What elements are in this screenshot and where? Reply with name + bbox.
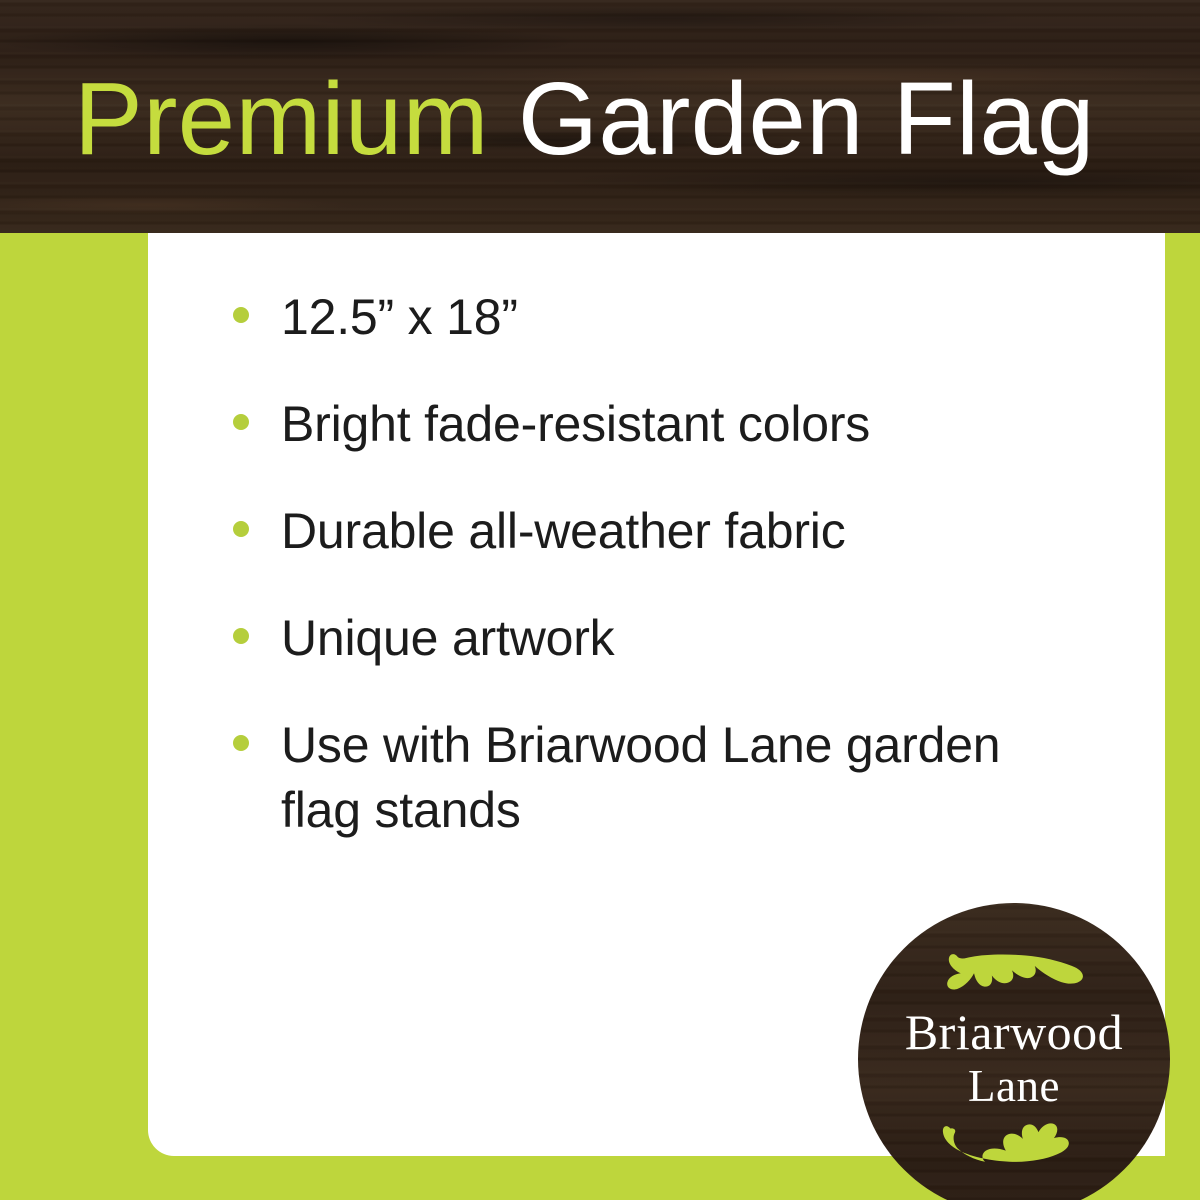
bullet-dot-icon [233,735,249,751]
list-item-label: 12.5” x 18” [281,289,518,345]
logo-line-two: Lane [905,1064,1123,1109]
feature-list: 12.5” x 18” Bright fade-resistant colors… [233,285,1033,843]
logo-wordmark: Briarwood Lane [905,1007,1123,1109]
bullet-dot-icon [233,521,249,537]
oak-leaf-icon [940,1119,1088,1169]
list-item-label: Durable all-weather fabric [281,503,846,559]
list-item: Durable all-weather fabric [233,499,1033,564]
list-item: 12.5” x 18” [233,285,1033,350]
bullet-dot-icon [233,307,249,323]
list-item-label: Use with Briarwood Lane garden flag stan… [281,717,1000,838]
oak-leaf-icon [940,949,1088,999]
product-feature-infographic: Premium Garden Flag Premium Outdoor Deco… [0,0,1200,1200]
page-title-rest: Garden Flag [489,61,1095,176]
list-item-label: Bright fade-resistant colors [281,396,870,452]
list-item: Bright fade-resistant colors [233,392,1033,457]
logo-contents: Briarwood Lane [858,903,1170,1200]
briarwood-lane-logo: Briarwood Lane [858,903,1170,1200]
page-title: Premium Garden Flag [74,60,1095,178]
header-wood-banner: Premium Garden Flag [0,0,1200,233]
list-item: Unique artwork [233,606,1033,671]
page-title-highlight: Premium [74,61,489,176]
list-item-label: Unique artwork [281,610,614,666]
list-item: Use with Briarwood Lane garden flag stan… [233,713,1033,843]
bullet-dot-icon [233,628,249,644]
logo-line-one: Briarwood [905,1007,1123,1057]
sidebar-banner: Premium Outdoor Decor [0,233,148,1200]
bullet-dot-icon [233,414,249,430]
